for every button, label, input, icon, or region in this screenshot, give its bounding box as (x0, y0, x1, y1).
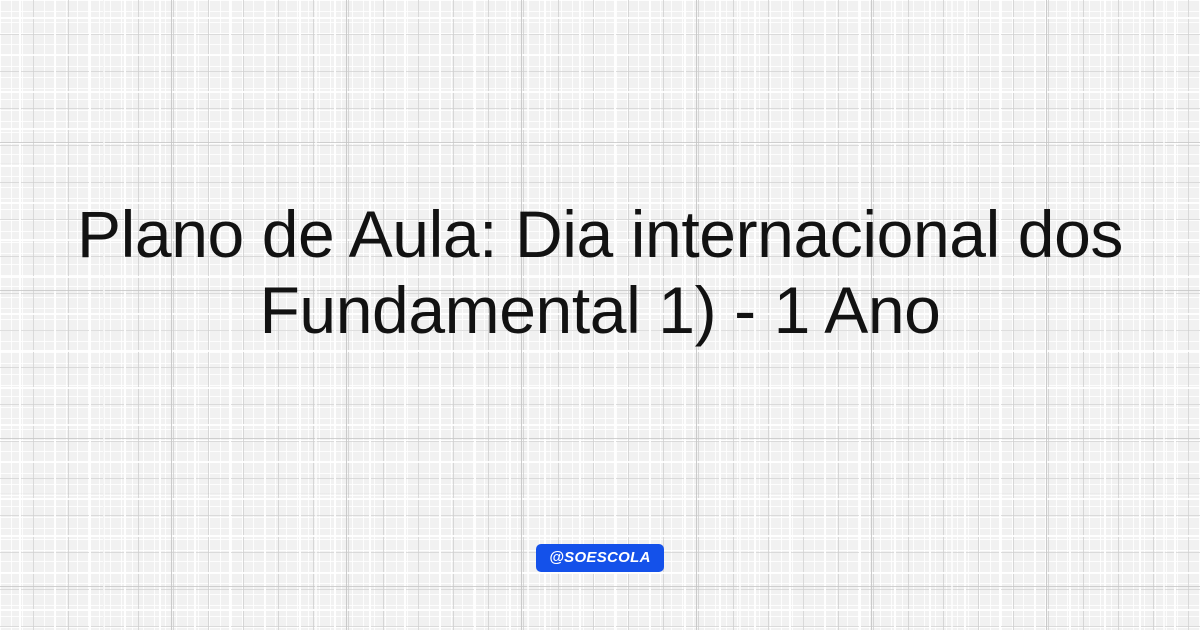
title-block: Plano de Aula: Dia internacional dos Fun… (0, 196, 1200, 348)
brand-watermark-badge: @SOESCOLA (536, 544, 664, 572)
og-card: Plano de Aula: Dia internacional dos Fun… (0, 0, 1200, 630)
page-title: Plano de Aula: Dia internacional dos Fun… (48, 196, 1152, 348)
watermark-row: @SOESCOLA (0, 544, 1200, 572)
